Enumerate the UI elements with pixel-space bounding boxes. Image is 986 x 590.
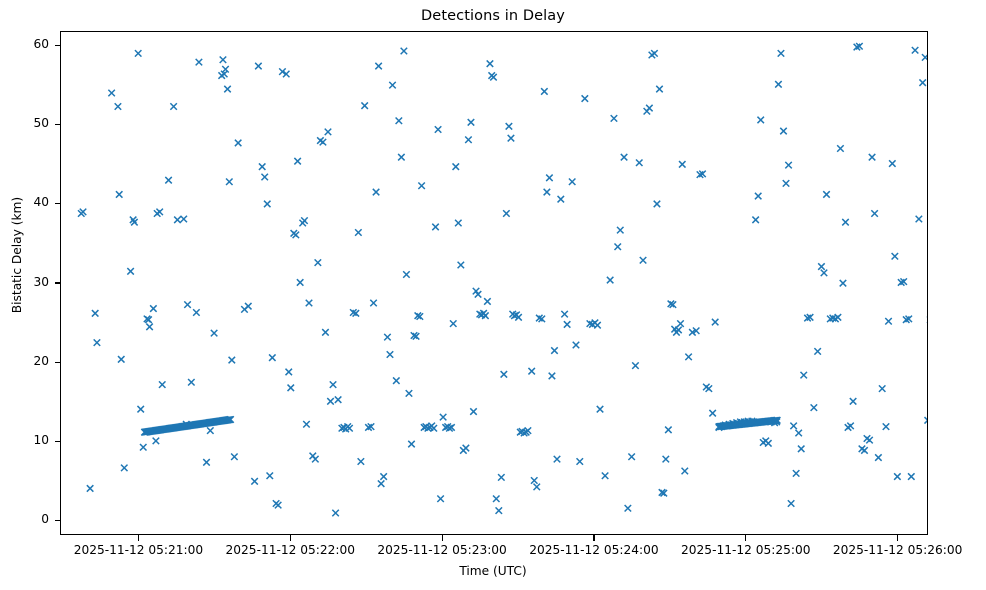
- scatter-marker: [475, 291, 482, 298]
- scatter-marker: [275, 502, 282, 509]
- scatter-marker: [665, 427, 672, 434]
- scatter-marker: [470, 408, 477, 415]
- x-tick-mark: [290, 535, 291, 541]
- scatter-marker: [224, 86, 231, 93]
- y-tick-label: 50: [0, 116, 49, 130]
- scatter-marker: [174, 217, 181, 224]
- scatter-marker: [490, 74, 497, 81]
- scatter-marker: [821, 270, 828, 277]
- scatter-marker: [755, 193, 762, 200]
- scatter-marker: [468, 119, 475, 126]
- scatter-marker: [389, 82, 396, 89]
- y-tick-label: 10: [0, 433, 49, 447]
- scatter-marker: [146, 324, 153, 331]
- scatter-marker: [303, 421, 310, 428]
- scatter-marker: [656, 86, 663, 93]
- scatter-marker: [549, 373, 556, 380]
- scatter-marker: [286, 369, 293, 376]
- scatter-marker: [453, 163, 460, 170]
- scatter-marker: [484, 298, 491, 305]
- scatter-marker: [375, 63, 382, 70]
- scatter-marker: [80, 209, 87, 216]
- scatter-marker: [226, 179, 233, 186]
- scatter-marker: [788, 500, 795, 507]
- scatter-marker: [380, 473, 387, 480]
- scatter-marker: [87, 485, 93, 492]
- x-tick-label: 2025-11-12 05:26:00: [813, 543, 983, 557]
- y-tick-label: 40: [0, 195, 49, 209]
- scatter-marker: [140, 444, 147, 451]
- scatter-marker: [577, 458, 584, 465]
- scatter-marker: [783, 180, 790, 187]
- scatter-marker: [508, 135, 515, 142]
- y-tick-label: 20: [0, 354, 49, 368]
- scatter-marker: [636, 160, 643, 167]
- scatter-marker: [135, 50, 142, 57]
- plot-area: [60, 31, 928, 535]
- x-tick-mark: [593, 535, 594, 541]
- scatter-marker: [455, 220, 462, 227]
- scatter-marker: [116, 191, 123, 198]
- scatter-marker: [503, 210, 510, 217]
- scatter-marker: [919, 79, 926, 86]
- scatter-marker: [465, 137, 472, 144]
- scatter-marker: [269, 354, 276, 361]
- scatter-marker: [544, 189, 551, 196]
- scatter-marker: [220, 56, 227, 63]
- scatter-marker: [131, 219, 138, 226]
- x-axis-label: Time (UTC): [0, 564, 986, 578]
- scatter-marker: [541, 88, 548, 95]
- scatter-marker: [306, 300, 313, 307]
- scatter-marker: [617, 227, 624, 234]
- scatter-marker: [611, 115, 618, 122]
- scatter-marker: [493, 496, 500, 503]
- scatter-marker: [418, 182, 425, 189]
- scatter-marker: [564, 321, 571, 328]
- scatter-marker: [528, 368, 535, 375]
- scatter-marker: [679, 161, 686, 168]
- scatter-marker: [261, 174, 268, 181]
- scatter-marker: [193, 309, 200, 316]
- scatter-marker: [196, 59, 203, 66]
- scatter-marker: [778, 50, 785, 57]
- scatter-marker: [837, 145, 844, 152]
- y-axis-label: Bistatic Delay (km): [10, 125, 24, 385]
- scatter-marker: [594, 322, 601, 329]
- scatter-marker: [406, 390, 413, 397]
- scatter-marker: [432, 224, 439, 231]
- scatter-marker: [823, 191, 830, 198]
- x-tick-mark: [442, 535, 443, 541]
- scatter-marker: [408, 441, 415, 448]
- scatter-marker: [894, 473, 901, 480]
- scatter-marker: [231, 454, 238, 461]
- page-title: Detections in Delay: [0, 8, 986, 24]
- scatter-marker: [207, 427, 214, 434]
- scatter-marker: [487, 60, 494, 67]
- scatter-marker: [752, 217, 759, 224]
- scatter-marker: [437, 496, 444, 503]
- scatter-marker: [677, 320, 684, 327]
- scatter-marker: [355, 229, 362, 236]
- scatter-marker: [188, 379, 195, 386]
- scatter-marker: [798, 446, 805, 453]
- scatter-marker: [165, 177, 172, 184]
- scatter-marker: [793, 470, 800, 477]
- scatter-marker: [614, 244, 621, 251]
- scatter-marker: [259, 163, 266, 170]
- scatter-marker: [401, 48, 408, 55]
- scatter-marker: [396, 118, 403, 125]
- scatter-marker: [602, 473, 609, 480]
- scatter-marker: [795, 430, 802, 437]
- scatter-marker: [320, 139, 327, 146]
- scatter-marker: [875, 454, 882, 461]
- x-tick-label: 2025-11-12 05:23:00: [357, 543, 527, 557]
- scatter-marker: [267, 473, 274, 480]
- scatter-marker: [361, 102, 368, 109]
- scatter-marker: [384, 334, 391, 341]
- scatter-marker: [458, 262, 465, 269]
- scatter-marker: [118, 356, 125, 363]
- scatter-marker: [297, 279, 304, 286]
- scatter-marker: [850, 398, 857, 405]
- scatter-marker: [663, 456, 670, 463]
- scatter-marker: [315, 259, 322, 266]
- x-tick-mark: [897, 535, 898, 541]
- scatter-marker: [108, 90, 115, 97]
- scatter-marker: [682, 468, 689, 475]
- scatter-marker: [255, 63, 262, 70]
- scatter-marker: [582, 95, 589, 102]
- scatter-marker: [916, 216, 923, 223]
- scatter-marker: [869, 154, 876, 161]
- scatter-marker: [398, 154, 405, 161]
- y-tick-label: 0: [0, 512, 49, 526]
- scatter-marker: [842, 219, 849, 226]
- scatter-marker: [546, 175, 553, 182]
- scatter-marker: [293, 232, 300, 239]
- scatter-marker: [706, 385, 713, 392]
- scatter-marker: [775, 81, 782, 88]
- scatter-marker: [646, 105, 653, 112]
- scatter-marker: [235, 140, 242, 147]
- scatter-marker: [153, 438, 160, 445]
- scatter-marker: [866, 437, 873, 444]
- y-tick-label: 60: [0, 37, 49, 51]
- scatter-marker: [654, 201, 661, 208]
- scatter-marker: [551, 347, 558, 354]
- scatter-marker: [264, 201, 271, 208]
- scatter-marker: [463, 445, 470, 452]
- scatter-marker: [534, 484, 541, 491]
- scatter-marker: [814, 348, 821, 355]
- scatter-marker: [892, 253, 899, 260]
- scatter-marker: [847, 423, 854, 430]
- scatter-marker: [322, 329, 329, 336]
- x-tick-label: 2025-11-12 05:22:00: [205, 543, 375, 557]
- scatter-marker: [879, 385, 886, 392]
- scatter-marker: [393, 377, 400, 384]
- y-tick-label: 30: [0, 275, 49, 289]
- scatter-marker: [800, 372, 807, 379]
- scatter-marker: [335, 396, 342, 403]
- x-tick-mark: [138, 535, 139, 541]
- scatter-marker: [498, 474, 505, 481]
- scatter-marker: [757, 117, 764, 124]
- scatter-marker: [115, 103, 122, 110]
- scatter-marker: [561, 311, 568, 318]
- scatter-marker: [327, 398, 334, 405]
- scatter-marker: [170, 103, 177, 110]
- scatter-marker: [251, 478, 258, 485]
- scatter-marker: [765, 440, 772, 447]
- scatter-marker: [403, 271, 410, 278]
- scatter-marker: [330, 381, 337, 388]
- scatter-marker: [835, 314, 842, 321]
- scatter-marker: [554, 456, 561, 463]
- scatter-marker: [621, 154, 628, 161]
- scatter-marker: [625, 505, 632, 512]
- figure-canvas: Detections in Delay Bistatic Delay (km) …: [0, 0, 986, 590]
- scatter-marker: [121, 465, 128, 472]
- scatter-points-layer: [61, 32, 928, 535]
- scatter-marker: [883, 423, 890, 430]
- scatter-marker: [440, 414, 447, 421]
- scatter-marker: [531, 477, 538, 484]
- scatter-marker: [501, 371, 508, 378]
- x-tick-label: 2025-11-12 05:25:00: [661, 543, 831, 557]
- x-tick-label: 2025-11-12 05:24:00: [509, 543, 679, 557]
- scatter-marker: [632, 362, 639, 369]
- scatter-marker: [332, 510, 339, 517]
- scatter-marker: [780, 128, 787, 135]
- scatter-marker: [712, 319, 719, 326]
- scatter-marker: [607, 277, 614, 284]
- scatter-marker: [889, 160, 896, 167]
- scatter-marker: [496, 507, 503, 513]
- scatter-marker: [912, 47, 919, 54]
- scatter-marker: [222, 66, 229, 73]
- scatter-marker: [137, 406, 144, 413]
- scatter-marker: [861, 447, 868, 454]
- scatter-marker: [908, 473, 915, 480]
- scatter-marker: [924, 417, 928, 424]
- scatter-marker: [871, 210, 878, 217]
- scatter-marker: [245, 303, 252, 310]
- scatter-marker: [180, 216, 187, 223]
- scatter-marker: [450, 320, 457, 327]
- scatter-marker: [569, 179, 575, 186]
- scatter-marker: [922, 54, 928, 61]
- scatter-marker: [373, 189, 380, 196]
- scatter-marker: [840, 280, 847, 287]
- scatter-marker: [288, 385, 295, 392]
- scatter-marker: [211, 330, 218, 337]
- scatter-marker: [156, 209, 163, 216]
- scatter-marker: [927, 316, 928, 323]
- scatter-marker: [558, 196, 565, 203]
- scatter-marker: [811, 404, 818, 411]
- scatter-marker: [435, 126, 442, 133]
- scatter-marker: [229, 357, 236, 364]
- scatter-marker: [294, 158, 301, 165]
- scatter-marker: [573, 342, 580, 349]
- scatter-marker: [885, 318, 892, 325]
- scatter-marker: [685, 354, 692, 361]
- scatter-marker: [159, 381, 166, 388]
- scatter-marker: [312, 456, 319, 463]
- scatter-marker: [709, 410, 716, 417]
- scatter-marker: [506, 123, 512, 129]
- scatter-marker: [150, 305, 157, 312]
- scatter-marker: [818, 263, 825, 270]
- scatter-marker: [94, 339, 101, 346]
- scatter-marker: [651, 50, 658, 57]
- scatter-marker: [790, 423, 797, 430]
- scatter-marker: [597, 406, 604, 413]
- scatter-marker: [378, 480, 385, 487]
- scatter-marker: [92, 310, 99, 317]
- scatter-marker: [628, 454, 635, 461]
- scatter-marker: [127, 268, 133, 275]
- x-tick-mark: [745, 535, 746, 541]
- scatter-marker: [301, 217, 308, 224]
- scatter-marker: [325, 129, 332, 136]
- scatter-marker: [387, 351, 394, 358]
- scatter-marker: [370, 300, 377, 307]
- scatter-marker: [358, 458, 365, 465]
- scatter-marker: [203, 459, 210, 466]
- x-tick-label: 2025-11-12 05:21:00: [53, 543, 223, 557]
- scatter-marker: [184, 301, 191, 308]
- scatter-marker: [785, 162, 792, 169]
- scatter-marker: [640, 257, 647, 264]
